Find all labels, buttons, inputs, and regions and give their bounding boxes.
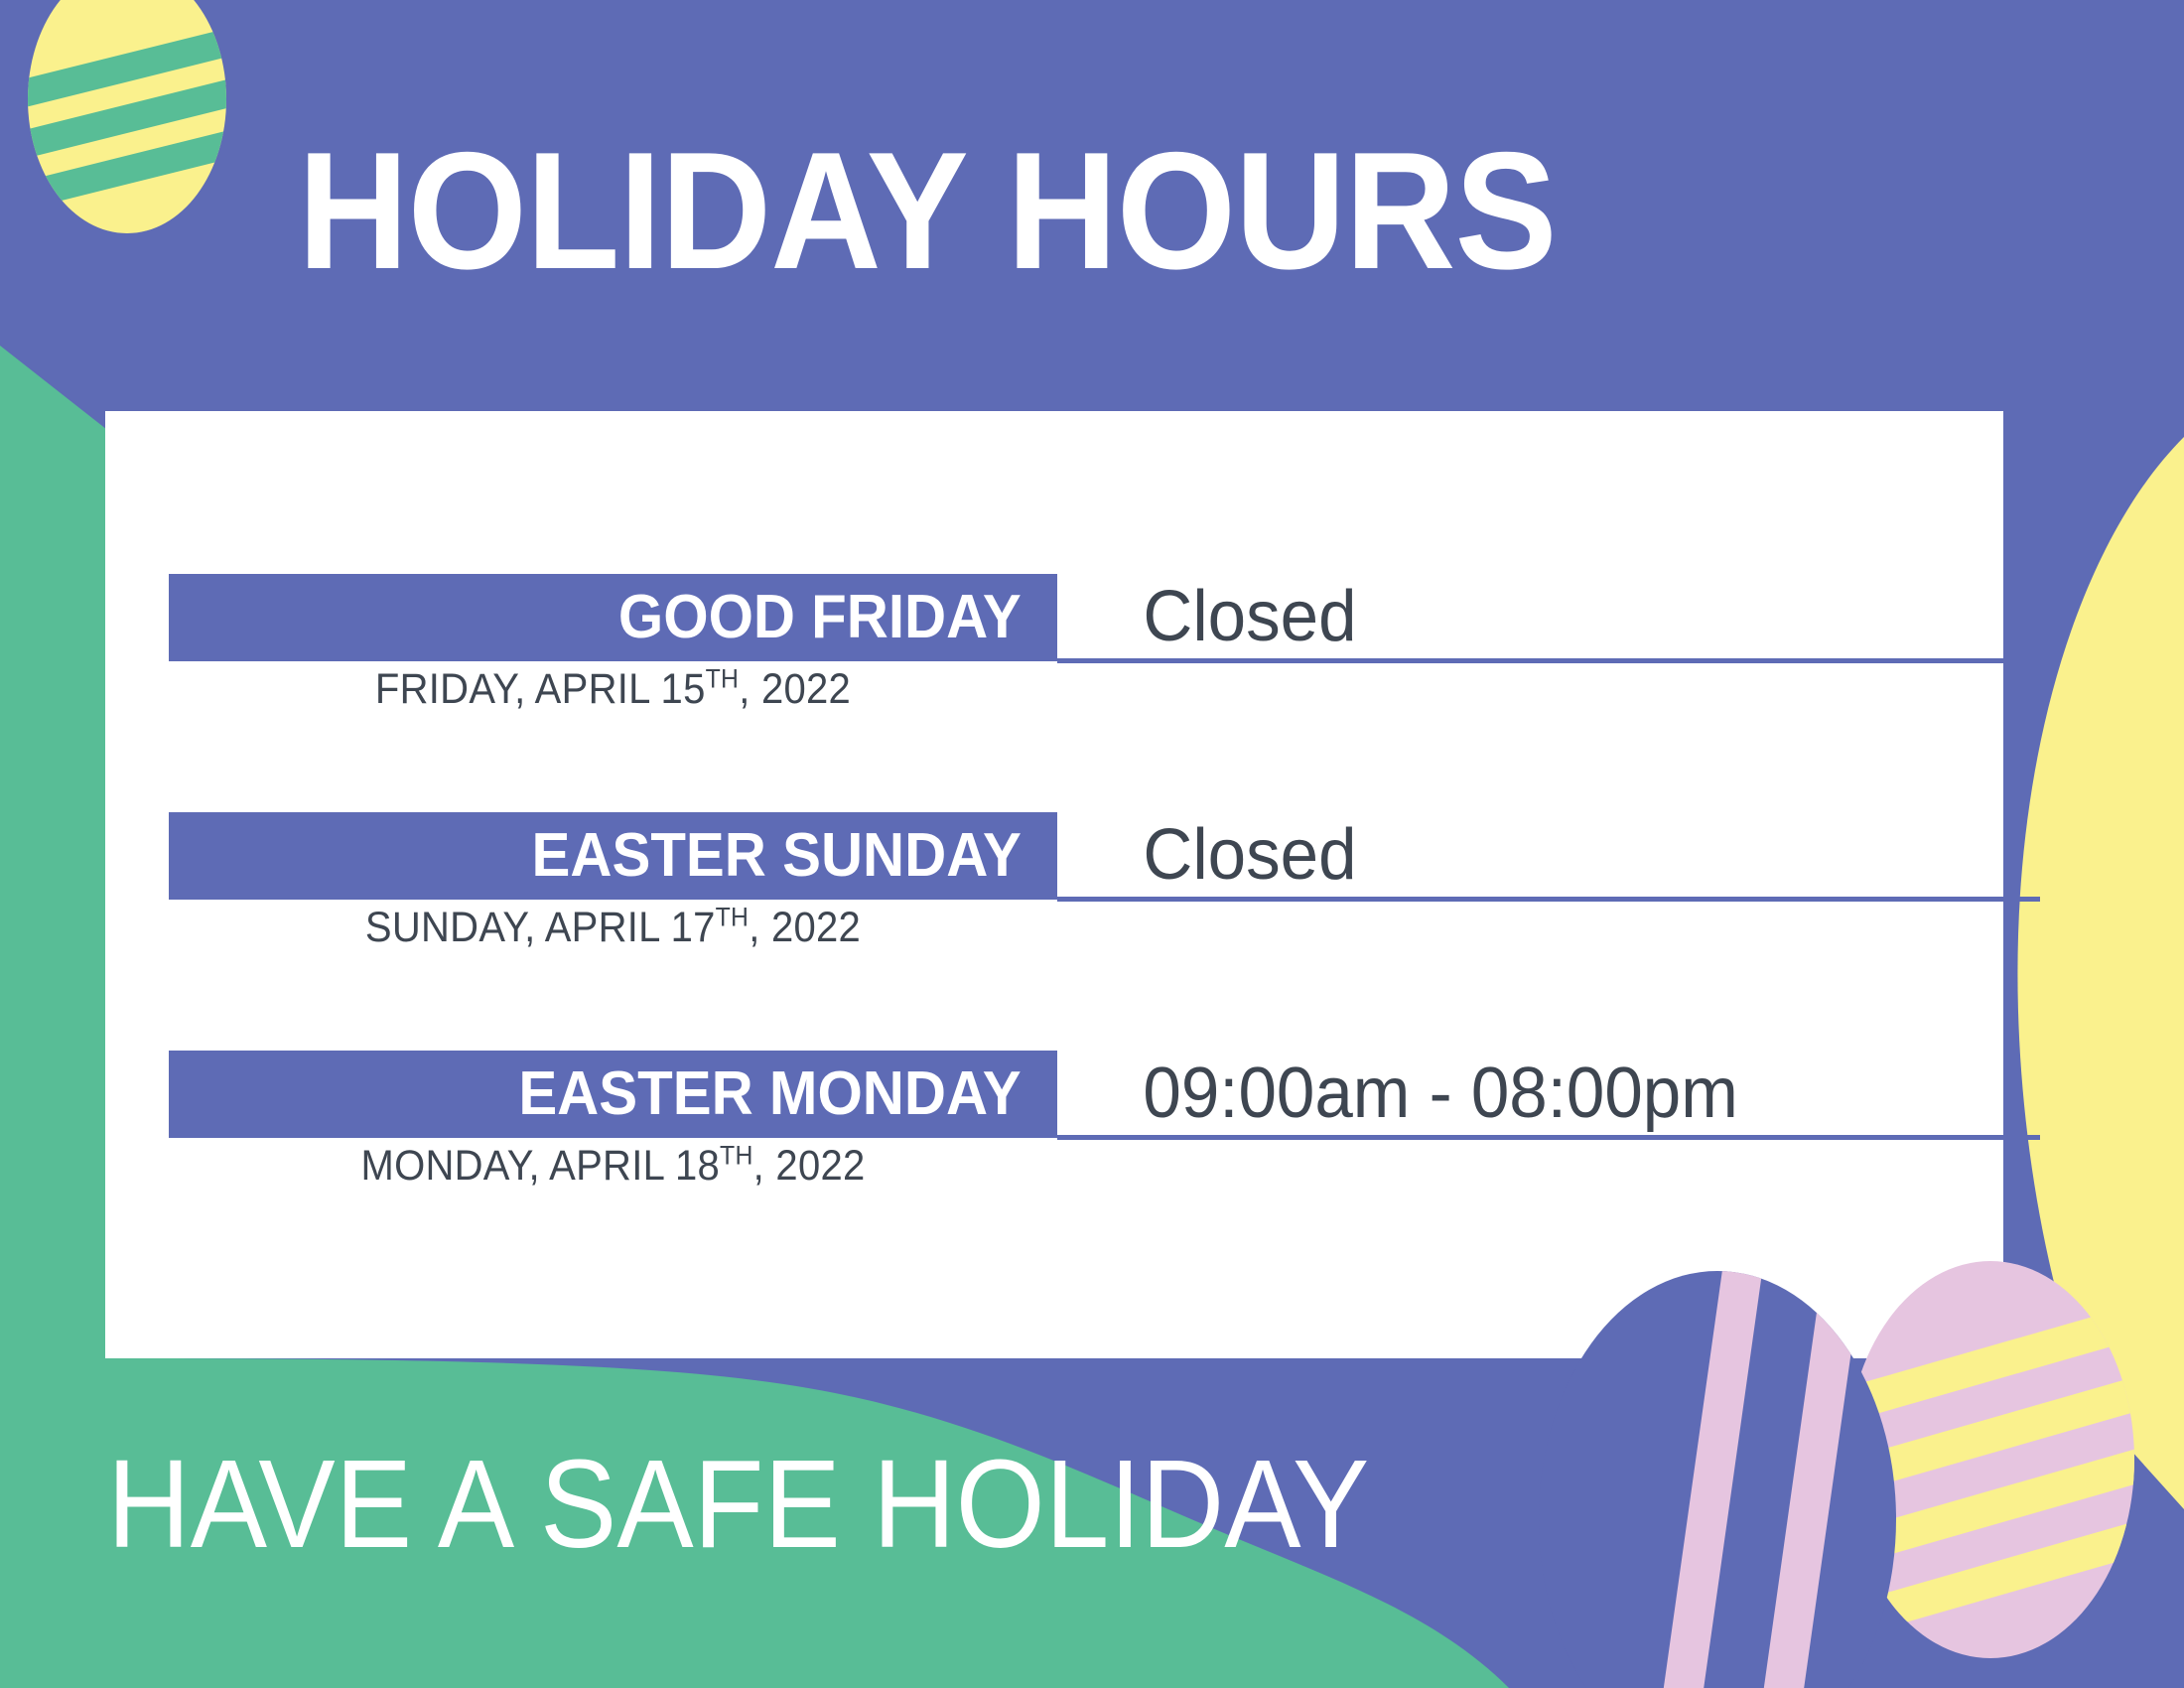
holiday-date: MONDAY, APRIL 18TH, 2022 xyxy=(200,1142,1025,1191)
holiday-date-ordinal: TH xyxy=(716,903,750,932)
schedule-row: EASTER MONDAY MONDAY, APRIL 18TH, 2022 0… xyxy=(169,1051,2040,1249)
holiday-name-label: EASTER MONDAY xyxy=(519,1063,1022,1125)
holiday-hours-cell: Closed xyxy=(1057,812,2040,902)
holiday-date: SUNDAY, APRIL 17TH, 2022 xyxy=(200,904,1025,952)
holiday-date-suffix: , 2022 xyxy=(739,665,851,713)
schedule-row: GOOD FRIDAY FRIDAY, APRIL 15TH, 2022 Clo… xyxy=(169,574,2040,773)
holiday-date-prefix: SUNDAY, APRIL 17 xyxy=(365,904,716,951)
holiday-hours-value: 09:00am - 08:00pm xyxy=(1057,1057,1738,1129)
tagline: HAVE A SAFE HOLIDAY xyxy=(107,1442,1369,1567)
holiday-date-suffix: , 2022 xyxy=(753,1142,866,1190)
holiday-date-prefix: MONDAY, APRIL 18 xyxy=(360,1142,720,1190)
holiday-name-label: GOOD FRIDAY xyxy=(618,587,1022,648)
holiday-date-ordinal: TH xyxy=(706,664,740,694)
holiday-hours-cell: 09:00am - 08:00pm xyxy=(1057,1051,2040,1140)
holiday-hours-value: Closed xyxy=(1057,581,1357,652)
holiday-name-band: GOOD FRIDAY xyxy=(169,574,1057,661)
holiday-hours-value: Closed xyxy=(1057,819,1357,891)
holiday-date-ordinal: TH xyxy=(720,1141,753,1171)
holiday-hours-poster: HOLIDAY HOURS GOOD FRIDAY FRIDAY, APRIL … xyxy=(0,0,2184,1688)
holiday-hours-cell: Closed xyxy=(1057,574,2040,663)
holiday-date-suffix: , 2022 xyxy=(749,904,861,951)
holiday-date-prefix: FRIDAY, APRIL 15 xyxy=(375,665,706,713)
holiday-date: FRIDAY, APRIL 15TH, 2022 xyxy=(200,665,1025,714)
holiday-name-label: EASTER SUNDAY xyxy=(532,825,1022,887)
holiday-name-band: EASTER SUNDAY xyxy=(169,812,1057,900)
holiday-name-band: EASTER MONDAY xyxy=(169,1051,1057,1138)
schedule-row: EASTER SUNDAY SUNDAY, APRIL 17TH, 2022 C… xyxy=(169,812,2040,1011)
